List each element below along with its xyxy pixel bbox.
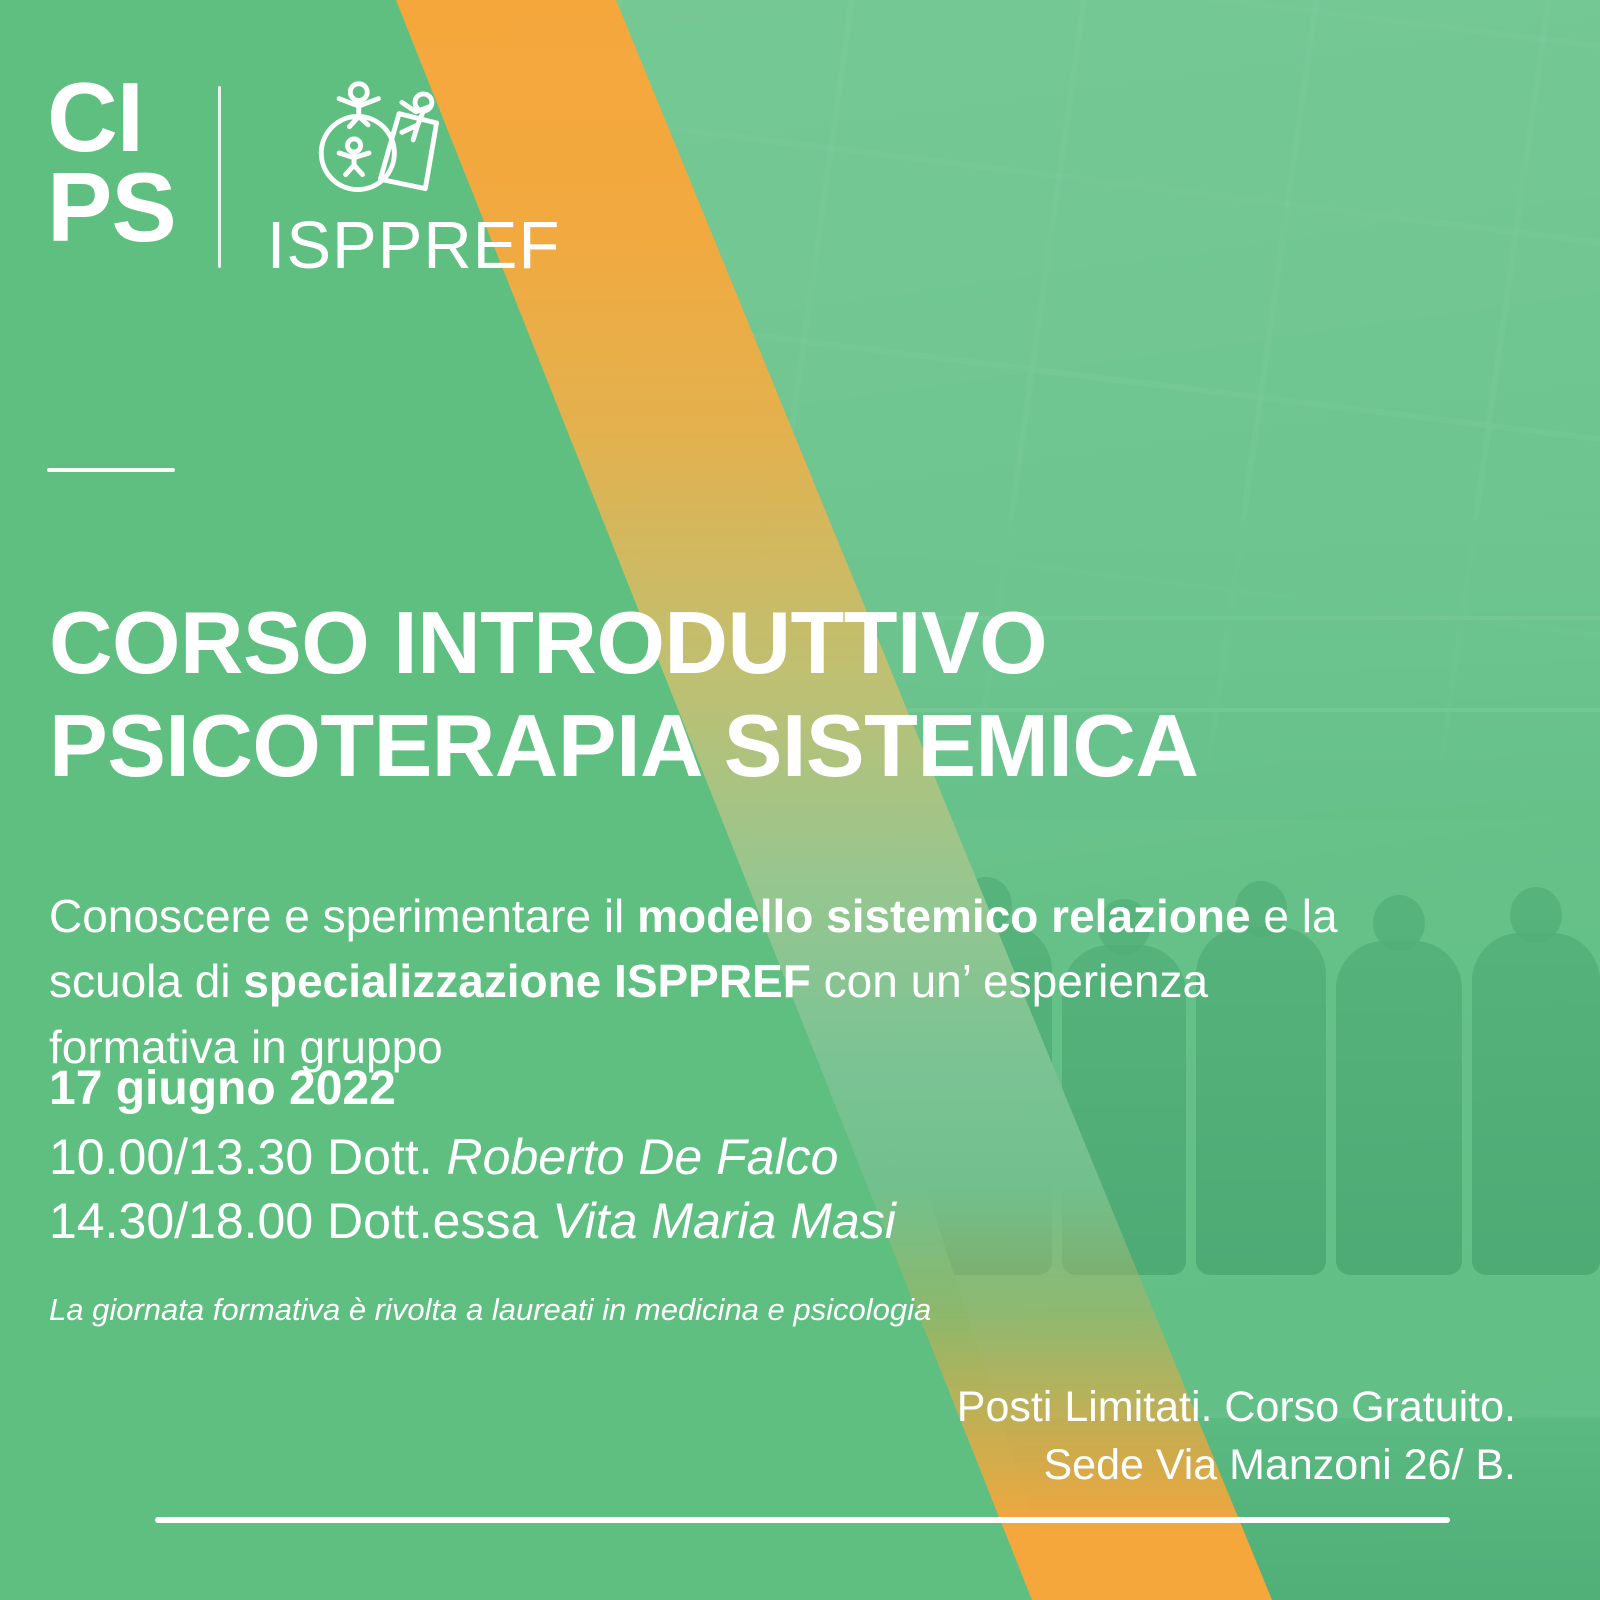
isppref-wordmark: ISPPREF <box>267 212 561 279</box>
session-speaker: Roberto De Falco <box>447 1129 839 1185</box>
lead-part-1: Conoscere e sperimentare il <box>49 890 637 942</box>
logo-divider <box>218 86 221 268</box>
session-time: 14.30/18.00 <box>49 1193 313 1249</box>
logo-block: CI PS <box>47 72 560 279</box>
info-line-venue: Sede Via Manzoni 26/ B. <box>957 1436 1516 1494</box>
session-title: Dott.essa <box>327 1193 538 1249</box>
people-circle-square-icon <box>305 78 465 198</box>
schedule-row: 10.00/13.30 Dott. Roberto De Falco <box>49 1125 896 1189</box>
session-title: Dott. <box>327 1129 433 1185</box>
schedule-block: 17 giugno 2022 10.00/13.30 Dott. Roberto… <box>49 1058 896 1253</box>
session-time: 10.00/13.30 <box>49 1129 313 1185</box>
brand-column: ISPPREF <box>267 78 561 279</box>
event-info-block: Posti Limitati. Corso Gratuito. Sede Via… <box>957 1378 1516 1495</box>
lead-bold-1: modello sistemico relazione <box>637 890 1251 942</box>
info-line-availability: Posti Limitati. Corso Gratuito. <box>957 1378 1516 1436</box>
section-divider-top <box>47 468 175 472</box>
page-title: CORSO INTRODUTTIVO PSICOTERAPIA SISTEMIC… <box>49 592 1198 798</box>
event-date: 17 giugno 2022 <box>49 1058 896 1119</box>
cips-line-2: PS <box>47 162 176 252</box>
cips-acronym: CI PS <box>47 72 176 252</box>
lead-bold-2: specializzazione ISPPREF <box>243 955 811 1007</box>
schedule-row: 14.30/18.00 Dott.essa Vita Maria Masi <box>49 1189 896 1253</box>
session-speaker: Vita Maria Masi <box>552 1193 896 1249</box>
section-divider-bottom <box>155 1517 1450 1523</box>
audience-note: La giornata formativa è rivolta a laurea… <box>49 1292 931 1328</box>
cips-line-1: CI <box>47 72 176 162</box>
poster-content: CI PS <box>0 0 1600 1600</box>
poster-canvas: CI PS <box>0 0 1600 1600</box>
lead-paragraph: Conoscere e sperimentare il modello sist… <box>49 884 1359 1080</box>
